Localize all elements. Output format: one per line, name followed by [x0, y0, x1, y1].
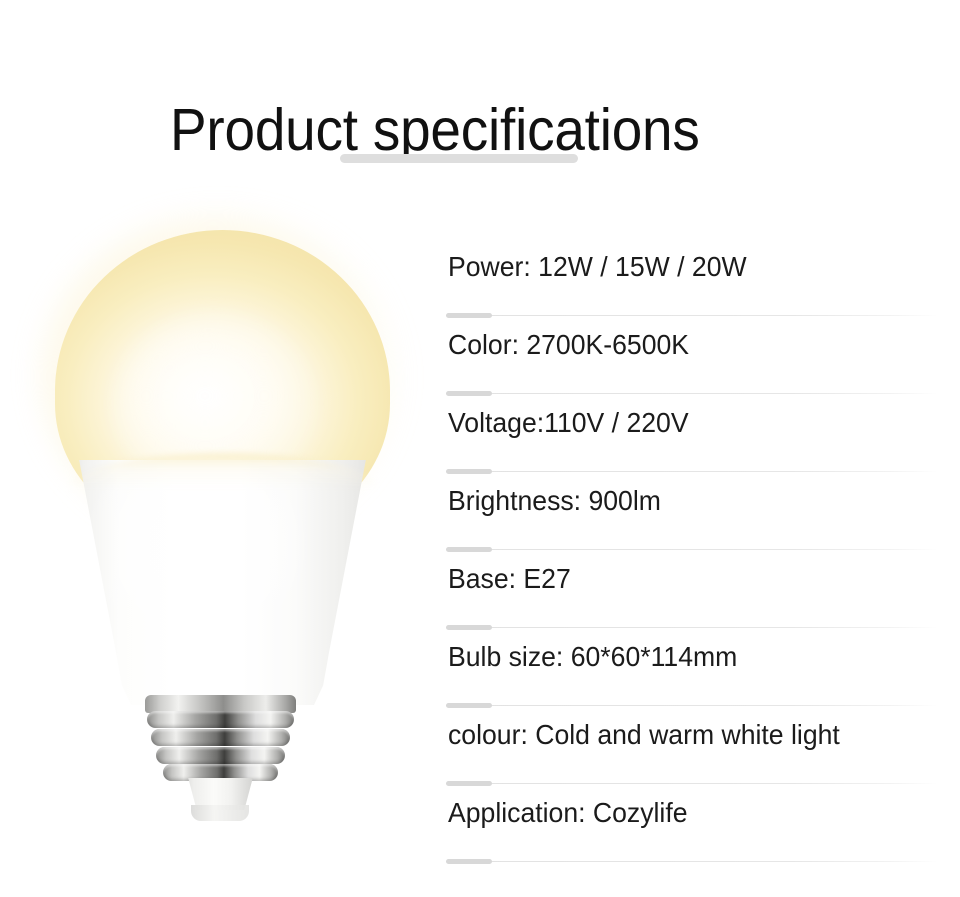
- bulb-e27-screw-base: [143, 695, 298, 800]
- separator-line: [446, 783, 938, 784]
- base-thread: [151, 729, 290, 746]
- separator-line: [446, 705, 938, 706]
- spec-row-text: Base: E27: [448, 560, 571, 598]
- product-image-bulb: [20, 195, 420, 865]
- base-thread: [156, 747, 285, 764]
- spec-row-text: Color: 2700K-6500K: [448, 326, 689, 364]
- product-specifications-page: Product specifications Power: 12W / 15W …: [0, 0, 960, 897]
- bulb-body-highlight: [70, 460, 375, 705]
- spec-row-text: Power: 12W / 15W / 20W: [448, 248, 747, 286]
- spec-row-text: Application: Cozylife: [448, 794, 688, 832]
- separator-line: [446, 315, 938, 316]
- separator-line: [446, 549, 938, 550]
- spec-row: Color: 2700K-6500K: [446, 318, 938, 396]
- separator-cap: [446, 859, 492, 864]
- spec-row: Voltage:110V / 220V: [446, 396, 938, 474]
- spec-row-text: colour: Cold and warm white light: [448, 716, 840, 754]
- spec-row-text: Brightness: 900lm: [448, 482, 661, 520]
- separator-line: [446, 393, 938, 394]
- spec-row: Application: Cozylife: [446, 786, 938, 864]
- spec-row-text: Bulb size: 60*60*114mm: [448, 638, 737, 676]
- spec-row: colour: Cold and warm white light: [446, 708, 938, 786]
- spec-row-text: Voltage:110V / 220V: [448, 404, 689, 442]
- title-underline-divider: [340, 154, 578, 163]
- spec-row: Base: E27: [446, 552, 938, 630]
- specifications-list: Power: 12W / 15W / 20W Color: 2700K-6500…: [446, 240, 938, 864]
- spec-row: Power: 12W / 15W / 20W: [446, 240, 938, 318]
- page-title: Product specifications: [170, 97, 700, 163]
- spec-row: Bulb size: 60*60*114mm: [446, 630, 938, 708]
- base-thread: [147, 711, 294, 728]
- base-contact: [191, 805, 249, 821]
- separator-line: [446, 471, 938, 472]
- separator-line: [446, 861, 938, 862]
- separator-line: [446, 627, 938, 628]
- spec-row-separator: [446, 859, 938, 864]
- spec-row: Brightness: 900lm: [446, 474, 938, 552]
